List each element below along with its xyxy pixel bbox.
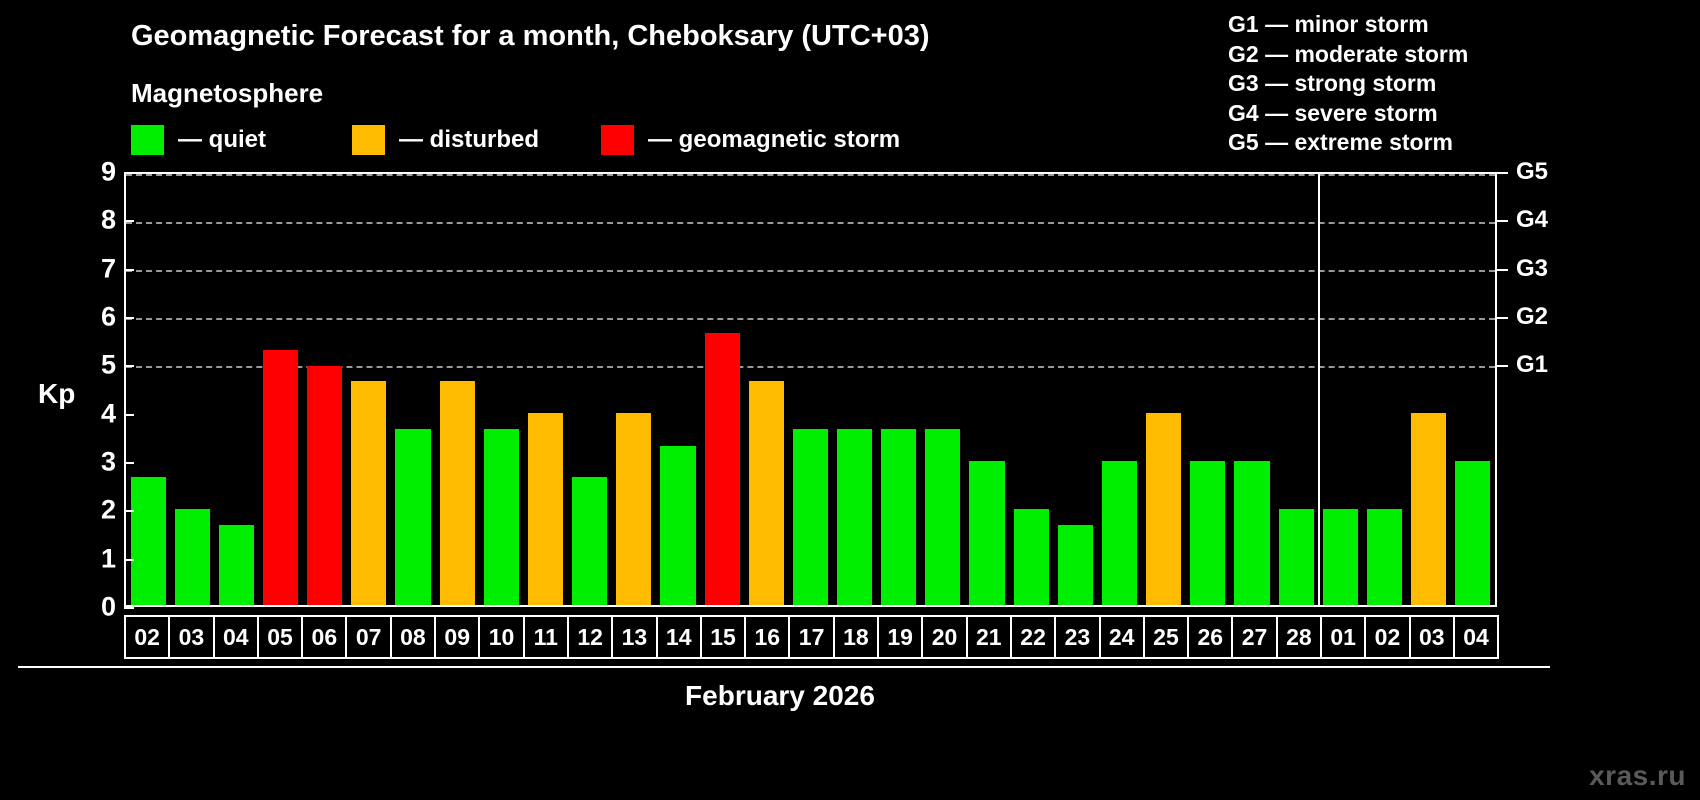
day-label-text: 10 xyxy=(489,624,515,651)
bar-cell xyxy=(744,174,788,605)
day-label-14-12: 14 xyxy=(656,615,702,659)
bar-cell xyxy=(1318,174,1362,605)
day-label-text: 04 xyxy=(1463,624,1489,651)
day-label-01-27: 01 xyxy=(1320,615,1366,659)
legend-label-geomagnetic-storm: — geomagnetic storm xyxy=(648,126,900,154)
day-label-02-28: 02 xyxy=(1364,615,1410,659)
bar-cell xyxy=(788,174,832,605)
g-tick-mark-G1 xyxy=(1497,365,1508,367)
day-label-04-2: 04 xyxy=(213,615,259,659)
day-label-text: 08 xyxy=(400,624,426,651)
day-label-24-22: 24 xyxy=(1099,615,1145,659)
g-tick-label-G2: G2 xyxy=(1516,303,1548,331)
y-tick-mark-4 xyxy=(124,414,134,416)
bar-day-24-22 xyxy=(1102,461,1137,605)
y-tick-mark-0 xyxy=(124,607,134,609)
y-tick-mark-2 xyxy=(124,510,134,512)
bar-cell xyxy=(1186,174,1230,605)
legend-label-quiet: — quiet xyxy=(178,126,266,154)
day-label-text: 12 xyxy=(577,624,603,651)
day-label-26-24: 26 xyxy=(1187,615,1233,659)
y-tick-mark-7 xyxy=(124,269,134,271)
y-axis-title: Kp xyxy=(38,378,75,410)
magnetosphere-label: Magnetosphere xyxy=(131,78,323,109)
bar-cell xyxy=(523,174,567,605)
bar-cell xyxy=(303,174,347,605)
day-label-text: 17 xyxy=(799,624,825,651)
bar-cell xyxy=(214,174,258,605)
current-time-marker xyxy=(1318,174,1320,605)
bar-day-19-17 xyxy=(881,429,916,605)
day-label-22-20: 22 xyxy=(1010,615,1056,659)
g-tick-label-G4: G4 xyxy=(1516,206,1548,234)
color-legend: — quiet— disturbed— geomagnetic storm xyxy=(131,124,900,156)
y-tick-mark-9 xyxy=(124,172,134,174)
bar-day-02-0 xyxy=(131,477,166,605)
bar-cell xyxy=(479,174,523,605)
legend-swatch-quiet xyxy=(131,125,164,155)
g-tick-mark-G5 xyxy=(1497,172,1508,174)
day-label-04-30: 04 xyxy=(1453,615,1499,659)
bar-cell xyxy=(1142,174,1186,605)
bar-day-25-23 xyxy=(1146,413,1181,605)
bar-cell xyxy=(1362,174,1406,605)
day-label-text: 20 xyxy=(932,624,958,651)
g-tick-label-G1: G1 xyxy=(1516,351,1548,379)
day-label-text: 09 xyxy=(444,624,470,651)
day-label-20-18: 20 xyxy=(921,615,967,659)
bar-cell xyxy=(965,174,1009,605)
y-axis-left: 9876543210 xyxy=(76,172,116,607)
day-label-21-19: 21 xyxy=(966,615,1012,659)
y-tick-label-8: 8 xyxy=(101,205,116,236)
bar-day-27-25 xyxy=(1234,461,1269,605)
bar-day-01-27 xyxy=(1323,509,1358,605)
bar-day-28-26 xyxy=(1279,509,1314,605)
bar-day-03-1 xyxy=(175,509,210,605)
bar-day-16-14 xyxy=(749,381,784,605)
bar-cell xyxy=(258,174,302,605)
bar-cell xyxy=(347,174,391,605)
day-label-27-25: 27 xyxy=(1231,615,1277,659)
bar-day-18-16 xyxy=(837,429,872,605)
bar-day-21-19 xyxy=(969,461,1004,605)
bar-day-11-9 xyxy=(528,413,563,605)
y-tick-mark-8 xyxy=(124,220,134,222)
day-label-text: 19 xyxy=(887,624,913,651)
chart-plot-area xyxy=(124,172,1497,607)
y-tick-mark-6 xyxy=(124,317,134,319)
bar-cell xyxy=(921,174,965,605)
day-label-text: 23 xyxy=(1065,624,1091,651)
bar-day-13-11 xyxy=(616,413,651,605)
g-scale-legend-line-1: G1 — minor storm xyxy=(1228,10,1468,40)
bar-cell xyxy=(170,174,214,605)
y-axis-right-g-scale: G5G4G3G2G1 xyxy=(1516,172,1586,607)
day-label-text: 16 xyxy=(755,624,781,651)
bar-day-22-20 xyxy=(1014,509,1049,605)
day-label-strip: 0203040506070809101112131415161718192021… xyxy=(124,615,1497,659)
bar-day-06-4 xyxy=(307,366,342,605)
bar-cell xyxy=(656,174,700,605)
day-label-text: 14 xyxy=(666,624,692,651)
day-label-23-21: 23 xyxy=(1054,615,1100,659)
day-label-03-1: 03 xyxy=(168,615,214,659)
bar-cell xyxy=(1451,174,1495,605)
bar-series xyxy=(126,174,1495,605)
bar-day-15-13 xyxy=(705,333,740,605)
bar-day-07-5 xyxy=(351,381,386,605)
day-label-text: 24 xyxy=(1109,624,1135,651)
day-label-text: 21 xyxy=(976,624,1002,651)
day-label-text: 13 xyxy=(622,624,648,651)
y-tick-label-2: 2 xyxy=(101,495,116,526)
g-tick-label-G5: G5 xyxy=(1516,158,1548,186)
bar-day-02-28 xyxy=(1367,509,1402,605)
g-scale-legend-line-4: G4 — severe storm xyxy=(1228,99,1468,129)
day-label-text: 04 xyxy=(223,624,249,651)
day-label-17-15: 17 xyxy=(788,615,834,659)
y-tick-label-5: 5 xyxy=(101,350,116,381)
g-scale-legend: G1 — minor stormG2 — moderate stormG3 — … xyxy=(1228,10,1468,158)
bar-cell xyxy=(1274,174,1318,605)
g-tick-mark-G4 xyxy=(1497,220,1508,222)
day-label-text: 15 xyxy=(710,624,736,651)
y-tick-label-4: 4 xyxy=(101,398,116,429)
bar-day-12-10 xyxy=(572,477,607,605)
g-scale-legend-line-5: G5 — extreme storm xyxy=(1228,128,1468,158)
x-axis-title: February 2026 xyxy=(0,680,1560,712)
bar-cell xyxy=(1407,174,1451,605)
day-label-text: 18 xyxy=(843,624,869,651)
day-label-text: 01 xyxy=(1330,624,1356,651)
day-label-09-7: 09 xyxy=(434,615,480,659)
legend-item-geomagnetic-storm: — geomagnetic storm xyxy=(601,125,900,155)
day-label-28-26: 28 xyxy=(1276,615,1322,659)
day-label-10-8: 10 xyxy=(478,615,524,659)
y-tick-label-6: 6 xyxy=(101,301,116,332)
bar-day-17-15 xyxy=(793,429,828,605)
day-label-08-6: 08 xyxy=(390,615,436,659)
day-label-13-11: 13 xyxy=(611,615,657,659)
day-label-text: 02 xyxy=(134,624,160,651)
g-scale-legend-line-3: G3 — strong storm xyxy=(1228,69,1468,99)
bar-cell xyxy=(1097,174,1141,605)
bar-cell xyxy=(612,174,656,605)
bar-day-05-3 xyxy=(263,350,298,605)
bar-day-14-12 xyxy=(660,446,695,605)
day-label-text: 26 xyxy=(1197,624,1223,651)
day-label-25-23: 25 xyxy=(1143,615,1189,659)
bar-cell xyxy=(391,174,435,605)
g-tick-mark-G2 xyxy=(1497,317,1508,319)
bar-day-23-21 xyxy=(1058,525,1093,605)
day-label-text: 11 xyxy=(534,624,558,651)
legend-label-disturbed: — disturbed xyxy=(399,126,539,154)
day-label-text: 06 xyxy=(312,624,338,651)
day-label-18-16: 18 xyxy=(833,615,879,659)
day-label-15-13: 15 xyxy=(700,615,746,659)
day-label-text: 02 xyxy=(1375,624,1401,651)
legend-item-quiet: — quiet xyxy=(131,125,266,155)
y-tick-label-3: 3 xyxy=(101,446,116,477)
bar-day-04-2 xyxy=(219,525,254,605)
g-tick-label-G3: G3 xyxy=(1516,255,1548,283)
axis-baseline-rule xyxy=(18,666,1550,668)
day-label-06-4: 06 xyxy=(301,615,347,659)
day-label-text: 03 xyxy=(179,624,205,651)
y-tick-label-0: 0 xyxy=(101,592,116,623)
g-scale-legend-line-2: G2 — moderate storm xyxy=(1228,40,1468,70)
bar-day-10-8 xyxy=(484,429,519,605)
day-label-07-5: 07 xyxy=(345,615,391,659)
bar-cell xyxy=(700,174,744,605)
day-label-text: 05 xyxy=(267,624,293,651)
bar-day-20-18 xyxy=(925,429,960,605)
day-label-text: 07 xyxy=(356,624,382,651)
legend-swatch-geomagnetic-storm xyxy=(601,125,634,155)
bar-cell xyxy=(568,174,612,605)
bar-day-26-24 xyxy=(1190,461,1225,605)
day-label-05-3: 05 xyxy=(257,615,303,659)
bar-cell xyxy=(435,174,479,605)
y-tick-label-1: 1 xyxy=(101,543,116,574)
day-label-text: 28 xyxy=(1286,624,1312,651)
bar-cell xyxy=(1230,174,1274,605)
bar-cell xyxy=(1053,174,1097,605)
bar-cell xyxy=(126,174,170,605)
day-label-03-29: 03 xyxy=(1409,615,1455,659)
y-tick-label-9: 9 xyxy=(101,157,116,188)
bar-cell xyxy=(1009,174,1053,605)
bar-day-04-30 xyxy=(1455,461,1490,605)
y-tick-mark-3 xyxy=(124,462,134,464)
day-label-12-10: 12 xyxy=(567,615,613,659)
bar-cell xyxy=(877,174,921,605)
y-tick-mark-1 xyxy=(124,559,134,561)
day-label-text: 03 xyxy=(1419,624,1445,651)
day-label-19-17: 19 xyxy=(877,615,923,659)
g-tick-mark-G3 xyxy=(1497,269,1508,271)
site-watermark: xras.ru xyxy=(1589,760,1686,792)
day-label-02-0: 02 xyxy=(124,615,170,659)
day-label-text: 22 xyxy=(1020,624,1046,651)
y-tick-mark-5 xyxy=(124,365,134,367)
y-tick-label-7: 7 xyxy=(101,253,116,284)
day-label-text: 27 xyxy=(1242,624,1268,651)
bar-day-08-6 xyxy=(395,429,430,605)
bar-cell xyxy=(833,174,877,605)
day-label-11-9: 11 xyxy=(523,615,569,659)
day-label-text: 25 xyxy=(1153,624,1179,651)
bar-day-03-29 xyxy=(1411,413,1446,605)
legend-swatch-disturbed xyxy=(352,125,385,155)
day-label-16-14: 16 xyxy=(744,615,790,659)
bar-day-09-7 xyxy=(440,381,475,605)
legend-item-disturbed: — disturbed xyxy=(352,125,539,155)
page-title: Geomagnetic Forecast for a month, Chebok… xyxy=(131,20,930,53)
